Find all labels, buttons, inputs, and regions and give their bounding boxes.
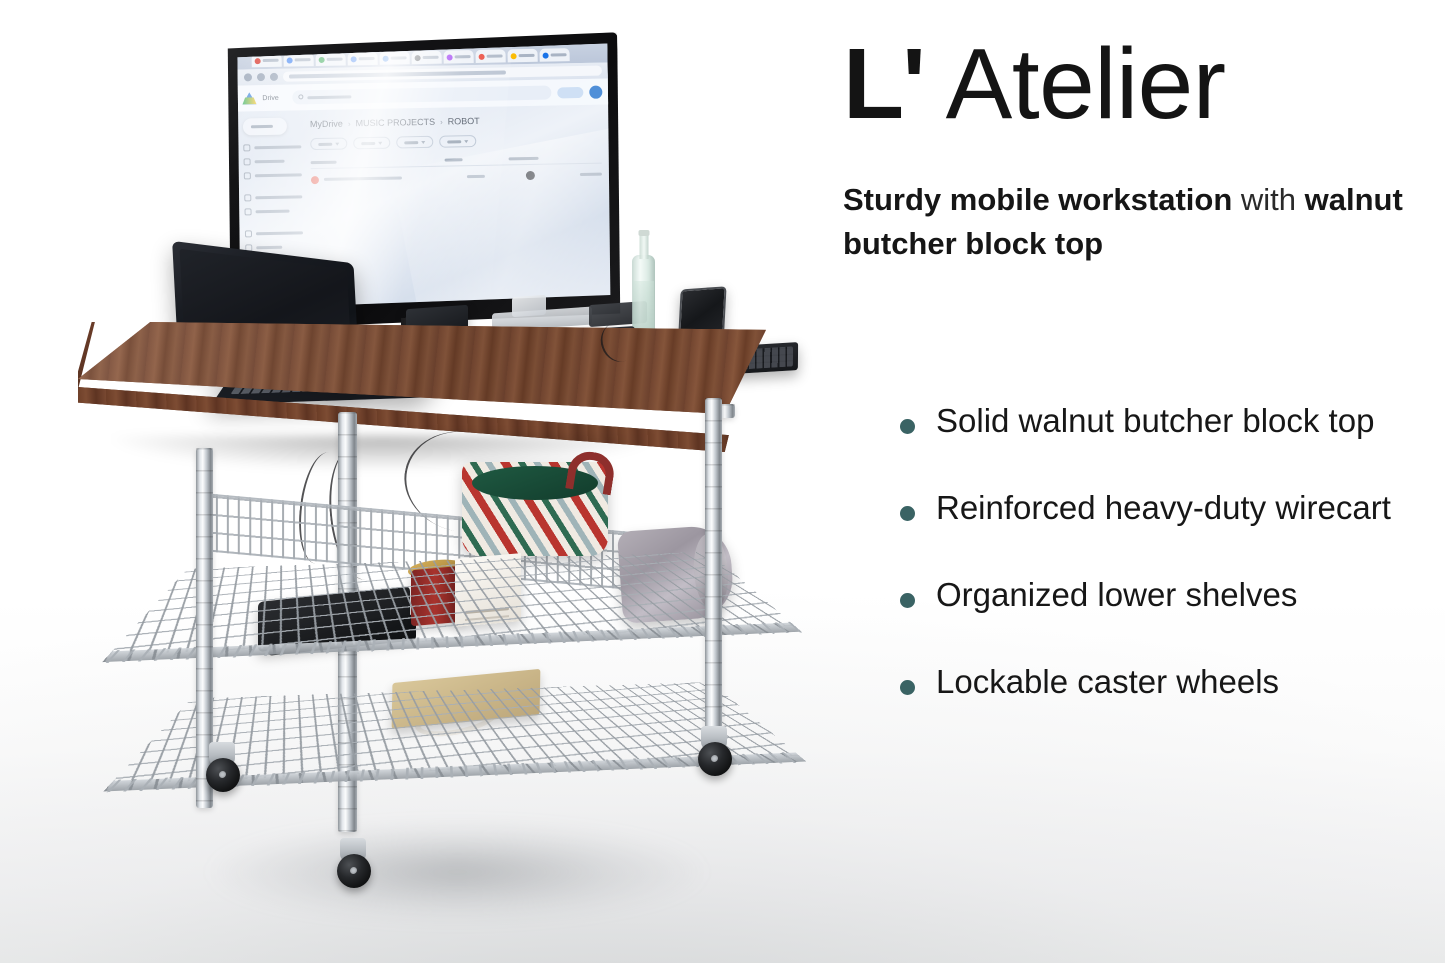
bottle-body [632, 255, 655, 335]
column-header-status [445, 158, 463, 161]
chevron-right-icon: › [348, 119, 351, 128]
subtitle-light: with [1232, 182, 1304, 217]
feature-item-wirecart: Reinforced heavy-duty wirecart [894, 487, 1445, 530]
filter-chip-source[interactable] [439, 135, 476, 148]
floor-shadow [150, 812, 790, 932]
bottle-cap [638, 230, 649, 236]
breadcrumb[interactable]: MyDrive › MUSIC PROJECTS › ROBOT [310, 114, 601, 130]
avatar[interactable] [589, 85, 602, 98]
drive-app-name: Drive [262, 94, 278, 101]
filter-chip-type[interactable] [310, 137, 347, 150]
sidebar-item[interactable] [244, 193, 302, 201]
breadcrumb-item-robot[interactable]: ROBOT [448, 116, 480, 127]
file-date [580, 173, 602, 176]
column-header-date [509, 157, 539, 161]
feature-item-caster-wheels: Lockable caster wheels [894, 661, 1445, 704]
bottle-neck [639, 233, 648, 259]
bullet-icon [900, 593, 915, 608]
feature-item-lower-shelves: Organized lower shelves [894, 574, 1445, 617]
sidebar-item[interactable] [244, 157, 302, 165]
browser-tab[interactable] [475, 49, 505, 63]
file-type-icon [311, 176, 319, 184]
filter-chip-row[interactable] [310, 133, 601, 151]
filter-chip-modified[interactable] [396, 136, 433, 149]
marketing-copy-panel: L' Atelier Sturdy mobile workstation wit… [836, 0, 1445, 963]
brand-name: Atelier [924, 28, 1226, 140]
bullet-icon [900, 506, 915, 521]
sidebar-item[interactable] [244, 171, 302, 179]
forward-icon[interactable] [257, 73, 265, 81]
chevron-right-icon: › [440, 117, 443, 126]
browser-tab[interactable] [412, 51, 442, 65]
bottle-water [633, 281, 654, 333]
file-list-header [311, 156, 602, 170]
browser-tab[interactable] [539, 48, 569, 62]
browser-tab[interactable] [348, 52, 378, 66]
feature-label: Lockable caster wheels [936, 663, 1279, 700]
brand-mark: L' [843, 28, 924, 140]
breadcrumb-item-mydrive[interactable]: MyDrive [310, 119, 343, 130]
bullet-icon [900, 680, 915, 695]
browser-tab[interactable] [444, 50, 474, 64]
feature-label: Solid walnut butcher block top [936, 402, 1374, 439]
drive-search-input[interactable] [293, 86, 552, 105]
file-name [324, 176, 402, 180]
product-hero-page: Drive [0, 0, 1445, 963]
feature-label: Organized lower shelves [936, 576, 1297, 613]
sidebar-item[interactable] [243, 143, 301, 151]
breadcrumb-item-music-projects[interactable]: MUSIC PROJECTS [355, 117, 435, 129]
browser-tab[interactable] [316, 52, 346, 66]
column-header-name [311, 161, 337, 164]
file-owner [467, 175, 485, 178]
brand-title: L' Atelier [843, 34, 1226, 134]
product-subtitle: Sturdy mobile workstation with walnut bu… [843, 178, 1423, 266]
reload-icon[interactable] [270, 73, 278, 81]
feature-label: Reinforced heavy-duty wirecart [936, 489, 1391, 526]
usb-hub [512, 295, 546, 317]
upgrade-pill[interactable] [557, 86, 583, 97]
feature-list: Solid walnut butcher block top Reinforce… [894, 400, 1445, 748]
water-bottle [632, 233, 655, 335]
back-icon[interactable] [244, 73, 252, 81]
bullet-icon [900, 419, 915, 434]
browser-tab[interactable] [507, 49, 537, 63]
drive-new-button[interactable] [243, 118, 287, 136]
google-drive-logo-icon [242, 92, 256, 104]
subtitle-strong-1: Sturdy mobile workstation [843, 182, 1232, 217]
status-badge [526, 171, 535, 180]
filter-chip-people[interactable] [353, 137, 390, 150]
sidebar-item[interactable] [244, 207, 302, 215]
sidebar-item[interactable] [245, 229, 303, 237]
feature-item-walnut-top: Solid walnut butcher block top [894, 400, 1445, 443]
product-photo: Drive [0, 0, 836, 963]
file-row[interactable] [311, 170, 602, 185]
browser-tab[interactable] [380, 51, 410, 65]
cart-post-front-right [705, 398, 722, 750]
